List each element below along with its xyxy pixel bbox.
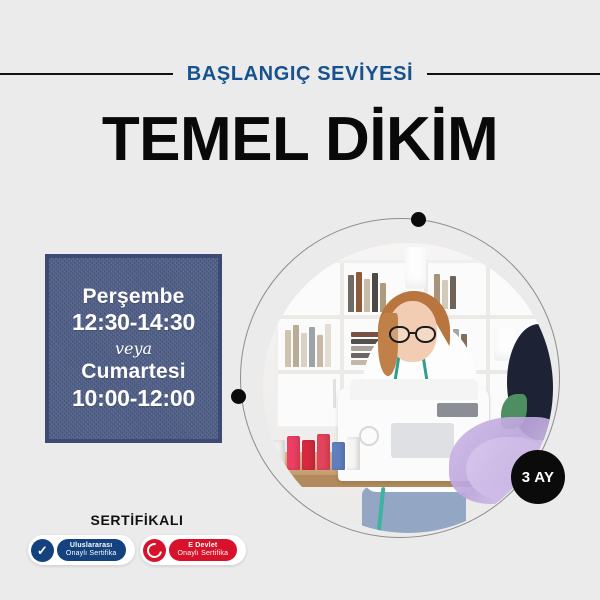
page-title: TEMEL DİKİM <box>0 107 600 172</box>
schedule-time-1: 12:30-14:30 <box>72 309 195 337</box>
certification-block: SERTİFİKALI ✓ Uluslararası Onaylı Sertif… <box>22 512 252 565</box>
eyebrow-band: BAŞLANGIÇ SEVİYESİ <box>0 58 600 90</box>
edevlet-icon <box>143 539 166 562</box>
badge-international: ✓ Uluslararası Onaylı Sertifika <box>28 535 135 565</box>
schedule-time-2: 10:00-12:00 <box>72 385 195 413</box>
photo-zone: 3 AY <box>240 202 585 532</box>
course-level-label: BAŞLANGIÇ SEVİYESİ <box>187 64 413 84</box>
divider-line-left <box>0 73 173 75</box>
badge-edevlet-text: E Devlet Onaylı Sertifika <box>169 539 238 561</box>
course-photo <box>263 243 553 533</box>
badge-international-text: Uluslararası Onaylı Sertifika <box>57 539 126 561</box>
badge-edevlet-line2: Onaylı Sertifika <box>178 550 229 558</box>
person-hair-side <box>378 313 398 377</box>
decorative-dot-left <box>231 389 246 404</box>
certification-badges: ✓ Uluslararası Onaylı Sertifika E Devlet… <box>22 535 252 565</box>
sewing-studio-illustration <box>263 243 553 533</box>
thread-spools <box>272 434 360 470</box>
badge-international-line1: Uluslararası <box>66 542 117 550</box>
badge-edevlet: E Devlet Onaylı Sertifika <box>140 535 247 565</box>
duration-badge: 3 AY <box>511 450 565 504</box>
schedule-day-2: Cumartesi <box>81 360 186 385</box>
course-promo-poster: BAŞLANGIÇ SEVİYESİ TEMEL DİKİM Perşembe … <box>0 0 600 600</box>
divider-line-right <box>427 73 600 75</box>
schedule-card: Perşembe 12:30-14:30 veya Cumartesi 10:0… <box>45 254 222 443</box>
schedule-day-1: Perşembe <box>83 285 185 310</box>
certification-title: SERTİFİKALI <box>22 512 252 528</box>
check-icon: ✓ <box>31 539 54 562</box>
glasses-icon <box>389 326 435 343</box>
badge-international-line2: Onaylı Sertifika <box>66 550 117 558</box>
schedule-separator: veya <box>115 341 152 357</box>
badge-edevlet-line1: E Devlet <box>178 542 229 550</box>
decorative-dot-top <box>411 212 426 227</box>
